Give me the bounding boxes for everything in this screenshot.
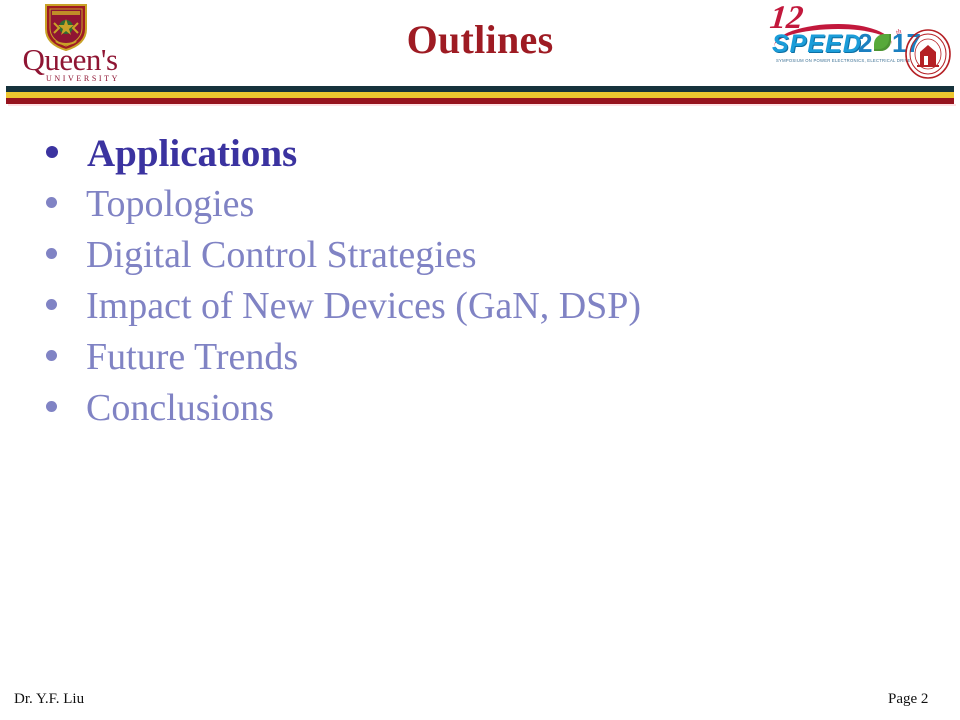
bullet-dot-icon — [46, 248, 57, 259]
list-item-label: Topologies — [86, 179, 254, 230]
rule-shadow — [8, 104, 956, 106]
list-item: Digital Control Strategies — [46, 230, 906, 281]
slide: Queen's UNIVERSITY Outlines 12 SPEED 2 1… — [0, 0, 960, 720]
list-item-label: Conclusions — [86, 383, 274, 434]
queens-university-logo: Queen's UNIVERSITY — [4, 2, 130, 84]
speed-wordmark: SPEED — [772, 32, 862, 57]
list-item-label: Future Trends — [86, 332, 298, 383]
header-tricolor-rule — [6, 86, 954, 104]
list-item-label: Impact of New Devices (GaN, DSP) — [86, 281, 641, 332]
footer-page-number: Page 2 — [888, 690, 928, 708]
page-title: Outlines — [240, 16, 720, 64]
queens-subtitle: UNIVERSITY — [36, 74, 130, 83]
university-seal-icon — [904, 28, 952, 80]
list-item: Topologies — [46, 179, 906, 230]
list-item-label: Applications — [87, 128, 297, 179]
bullet-dot-icon — [46, 299, 57, 310]
slide-header: Queen's UNIVERSITY Outlines 12 SPEED 2 1… — [0, 0, 960, 88]
bullet-dot-icon — [46, 401, 57, 412]
list-item: Conclusions — [46, 383, 906, 434]
bullet-dot-icon — [46, 146, 58, 158]
footer-author: Dr. Y.F. Liu — [14, 690, 84, 708]
outline-list: Applications Topologies Digital Control … — [46, 128, 906, 434]
speed-conference-logo: 12 SPEED 2 17 th SYMPOSIUM ON POWER ELEC… — [762, 2, 910, 80]
bullet-dot-icon — [46, 350, 57, 361]
list-item: Future Trends — [46, 332, 906, 383]
queens-wordmark: Queen's UNIVERSITY — [6, 44, 130, 84]
list-item: Applications — [46, 128, 906, 179]
bullet-dot-icon — [46, 197, 57, 208]
list-item-label: Digital Control Strategies — [86, 230, 477, 281]
list-item: Impact of New Devices (GaN, DSP) — [46, 281, 906, 332]
speed-year-prefix: 2 — [858, 30, 872, 56]
speed-subtitle: SYMPOSIUM ON POWER ELECTRONICS, ELECTRIC… — [776, 58, 910, 64]
queens-name: Queen's — [10, 44, 130, 75]
